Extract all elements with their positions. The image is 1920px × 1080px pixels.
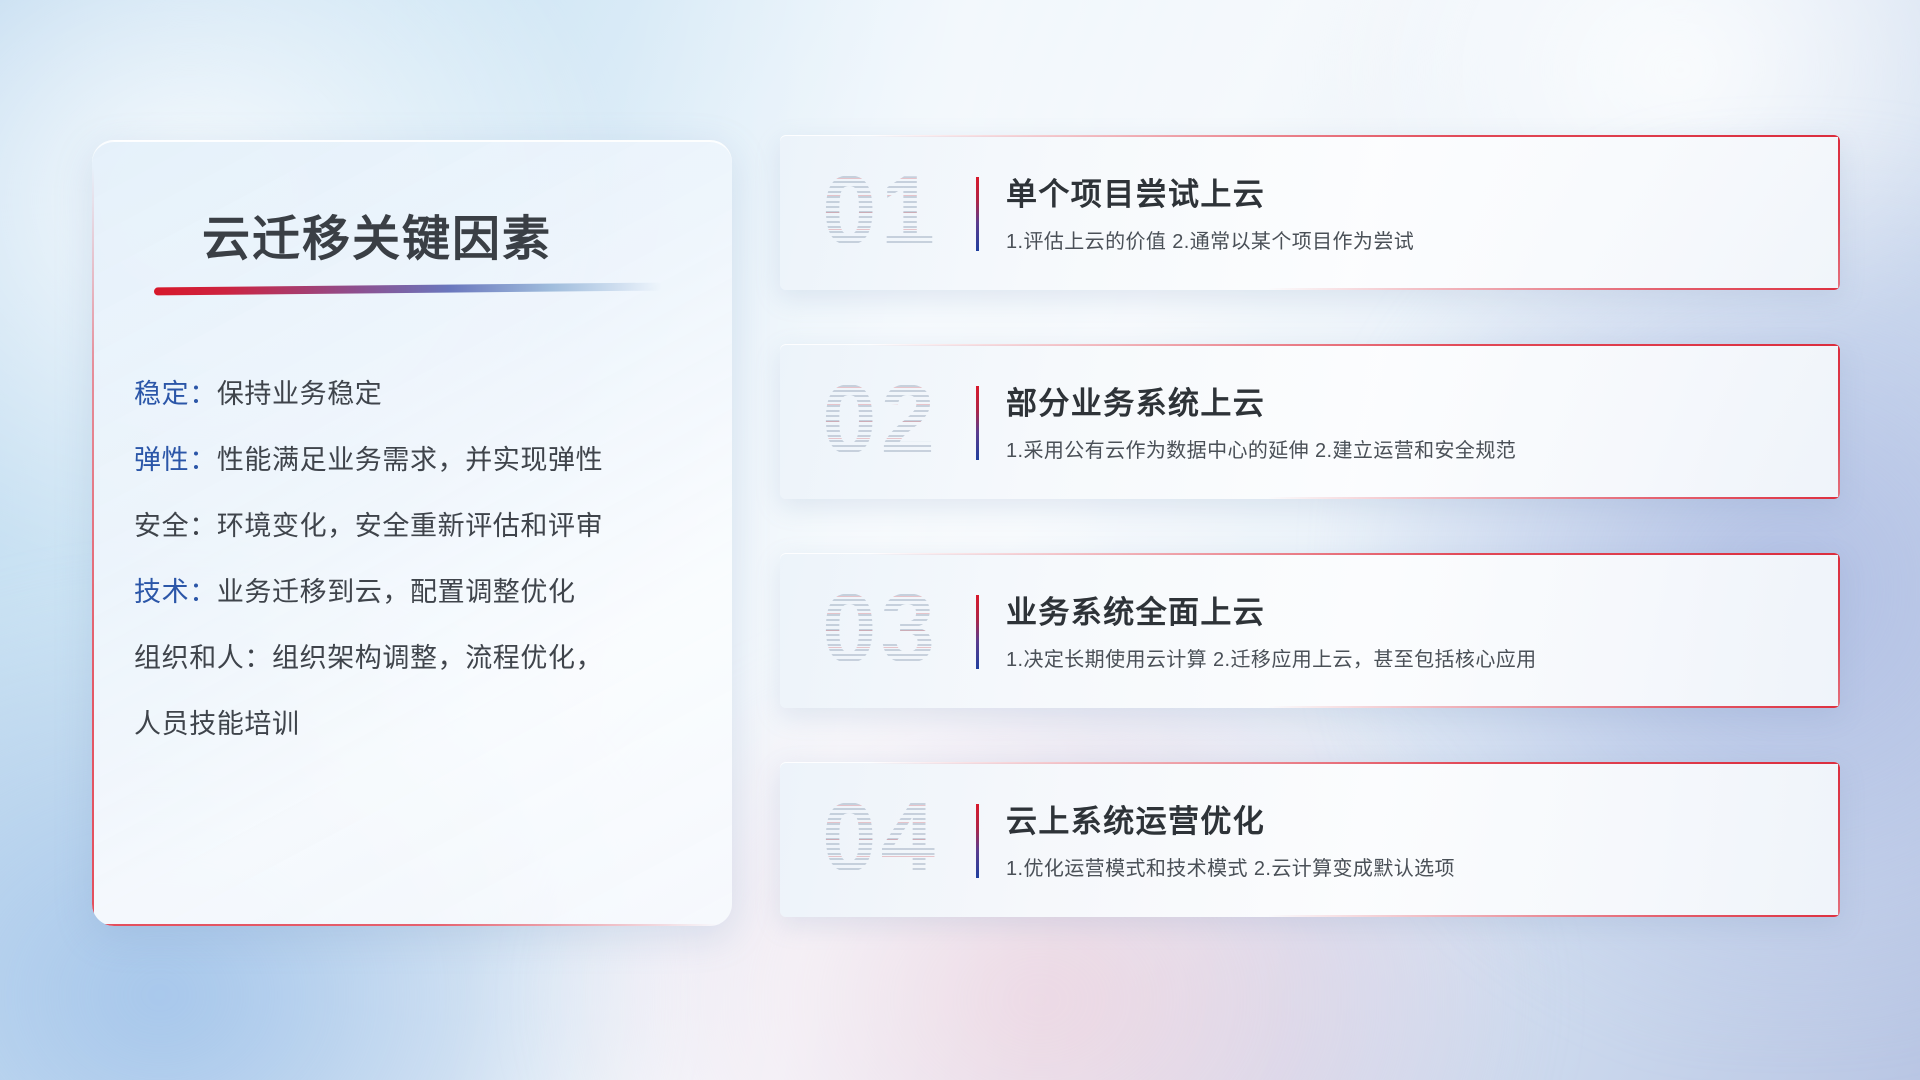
key-factor-label: 安全： bbox=[134, 511, 217, 541]
stage-card-list: 0101单个项目尝试上云1.评估上云的价值 2.通常以某个项目作为尝试0202部… bbox=[780, 135, 1840, 917]
card-title: 云上系统运营优化 bbox=[1006, 796, 1265, 841]
card-divider-bar bbox=[976, 177, 979, 251]
card-number-watermark-tint: 04 bbox=[822, 788, 939, 886]
card-number-watermark-tint: 01 bbox=[822, 161, 939, 259]
page-title: 云迁移关键因素 bbox=[202, 199, 552, 269]
key-factor-text: 业务迁移到云，配置调整优化 bbox=[217, 577, 576, 607]
stage-card-04[interactable]: 0404云上系统运营优化1.优化运营模式和技术模式 2.云计算变成默认选项 bbox=[780, 762, 1840, 917]
card-detail: 1.采用公有云作为数据中心的延伸 2.建立运营和安全规范 bbox=[1006, 434, 1516, 463]
card-top-accent-border bbox=[870, 344, 1840, 346]
card-divider-bar bbox=[976, 595, 979, 669]
key-factor-text: 保持业务稳定 bbox=[217, 379, 383, 409]
card-right-accent-border bbox=[1838, 135, 1840, 290]
key-factor-row: 组织和人：组织架构调整，流程优化， bbox=[134, 645, 704, 672]
card-bottom-accent-border bbox=[1268, 288, 1840, 290]
panel-bottom-accent-border bbox=[92, 924, 718, 926]
key-factor-row: 人员技能培训 bbox=[134, 711, 704, 738]
panel-left-accent-border bbox=[92, 167, 94, 926]
key-factors-panel: 云迁移关键因素 稳定：保持业务稳定弹性：性能满足业务需求，并实现弹性安全：环境变… bbox=[92, 140, 732, 926]
key-factor-text: 环境变化，安全重新评估和评审 bbox=[217, 511, 603, 541]
card-divider-bar bbox=[976, 804, 979, 878]
key-factors-list: 稳定：保持业务稳定弹性：性能满足业务需求，并实现弹性安全：环境变化，安全重新评估… bbox=[134, 381, 704, 738]
card-detail: 1.优化运营模式和技术模式 2.云计算变成默认选项 bbox=[1006, 852, 1455, 881]
stage-card-02[interactable]: 0202部分业务系统上云1.采用公有云作为数据中心的延伸 2.建立运营和安全规范 bbox=[780, 344, 1840, 499]
card-bottom-accent-border bbox=[1268, 915, 1840, 917]
card-divider-bar bbox=[976, 386, 979, 460]
card-bottom-accent-border bbox=[1268, 497, 1840, 499]
card-bottom-accent-border bbox=[1268, 706, 1840, 708]
key-factor-label: 弹性： bbox=[134, 445, 217, 475]
card-number-watermark-tint: 02 bbox=[822, 370, 939, 468]
card-number-watermark-tint: 03 bbox=[822, 579, 939, 677]
card-top-accent-border bbox=[870, 762, 1840, 764]
card-right-accent-border bbox=[1838, 762, 1840, 917]
card-title: 部分业务系统上云 bbox=[1006, 378, 1265, 423]
key-factor-row: 弹性：性能满足业务需求，并实现弹性 bbox=[134, 447, 704, 474]
key-factor-text: 性能满足业务需求，并实现弹性 bbox=[217, 445, 603, 475]
card-top-accent-border bbox=[870, 135, 1840, 137]
card-title: 业务系统全面上云 bbox=[1006, 587, 1265, 632]
card-right-accent-border bbox=[1838, 553, 1840, 708]
key-factor-row: 技术：业务迁移到云，配置调整优化 bbox=[134, 579, 704, 606]
key-factor-text: 人员技能培训 bbox=[134, 709, 300, 739]
key-factor-row: 安全：环境变化，安全重新评估和评审 bbox=[134, 513, 704, 540]
stage-card-03[interactable]: 0303业务系统全面上云1.决定长期使用云计算 2.迁移应用上云，甚至包括核心应… bbox=[780, 553, 1840, 708]
card-title: 单个项目尝试上云 bbox=[1006, 169, 1265, 214]
stage-card-01[interactable]: 0101单个项目尝试上云1.评估上云的价值 2.通常以某个项目作为尝试 bbox=[780, 135, 1840, 290]
card-top-accent-border bbox=[870, 553, 1840, 555]
key-factor-text: 组织架构调整，流程优化， bbox=[272, 643, 603, 673]
card-detail: 1.评估上云的价值 2.通常以某个项目作为尝试 bbox=[1006, 225, 1414, 254]
card-right-accent-border bbox=[1838, 344, 1840, 499]
card-detail: 1.决定长期使用云计算 2.迁移应用上云，甚至包括核心应用 bbox=[1006, 643, 1537, 672]
key-factor-label: 稳定： bbox=[134, 379, 217, 409]
key-factor-label: 组织和人： bbox=[134, 643, 272, 673]
key-factor-row: 稳定：保持业务稳定 bbox=[134, 381, 704, 408]
key-factor-label: 技术： bbox=[134, 577, 217, 607]
title-underline-gradient bbox=[154, 283, 662, 296]
